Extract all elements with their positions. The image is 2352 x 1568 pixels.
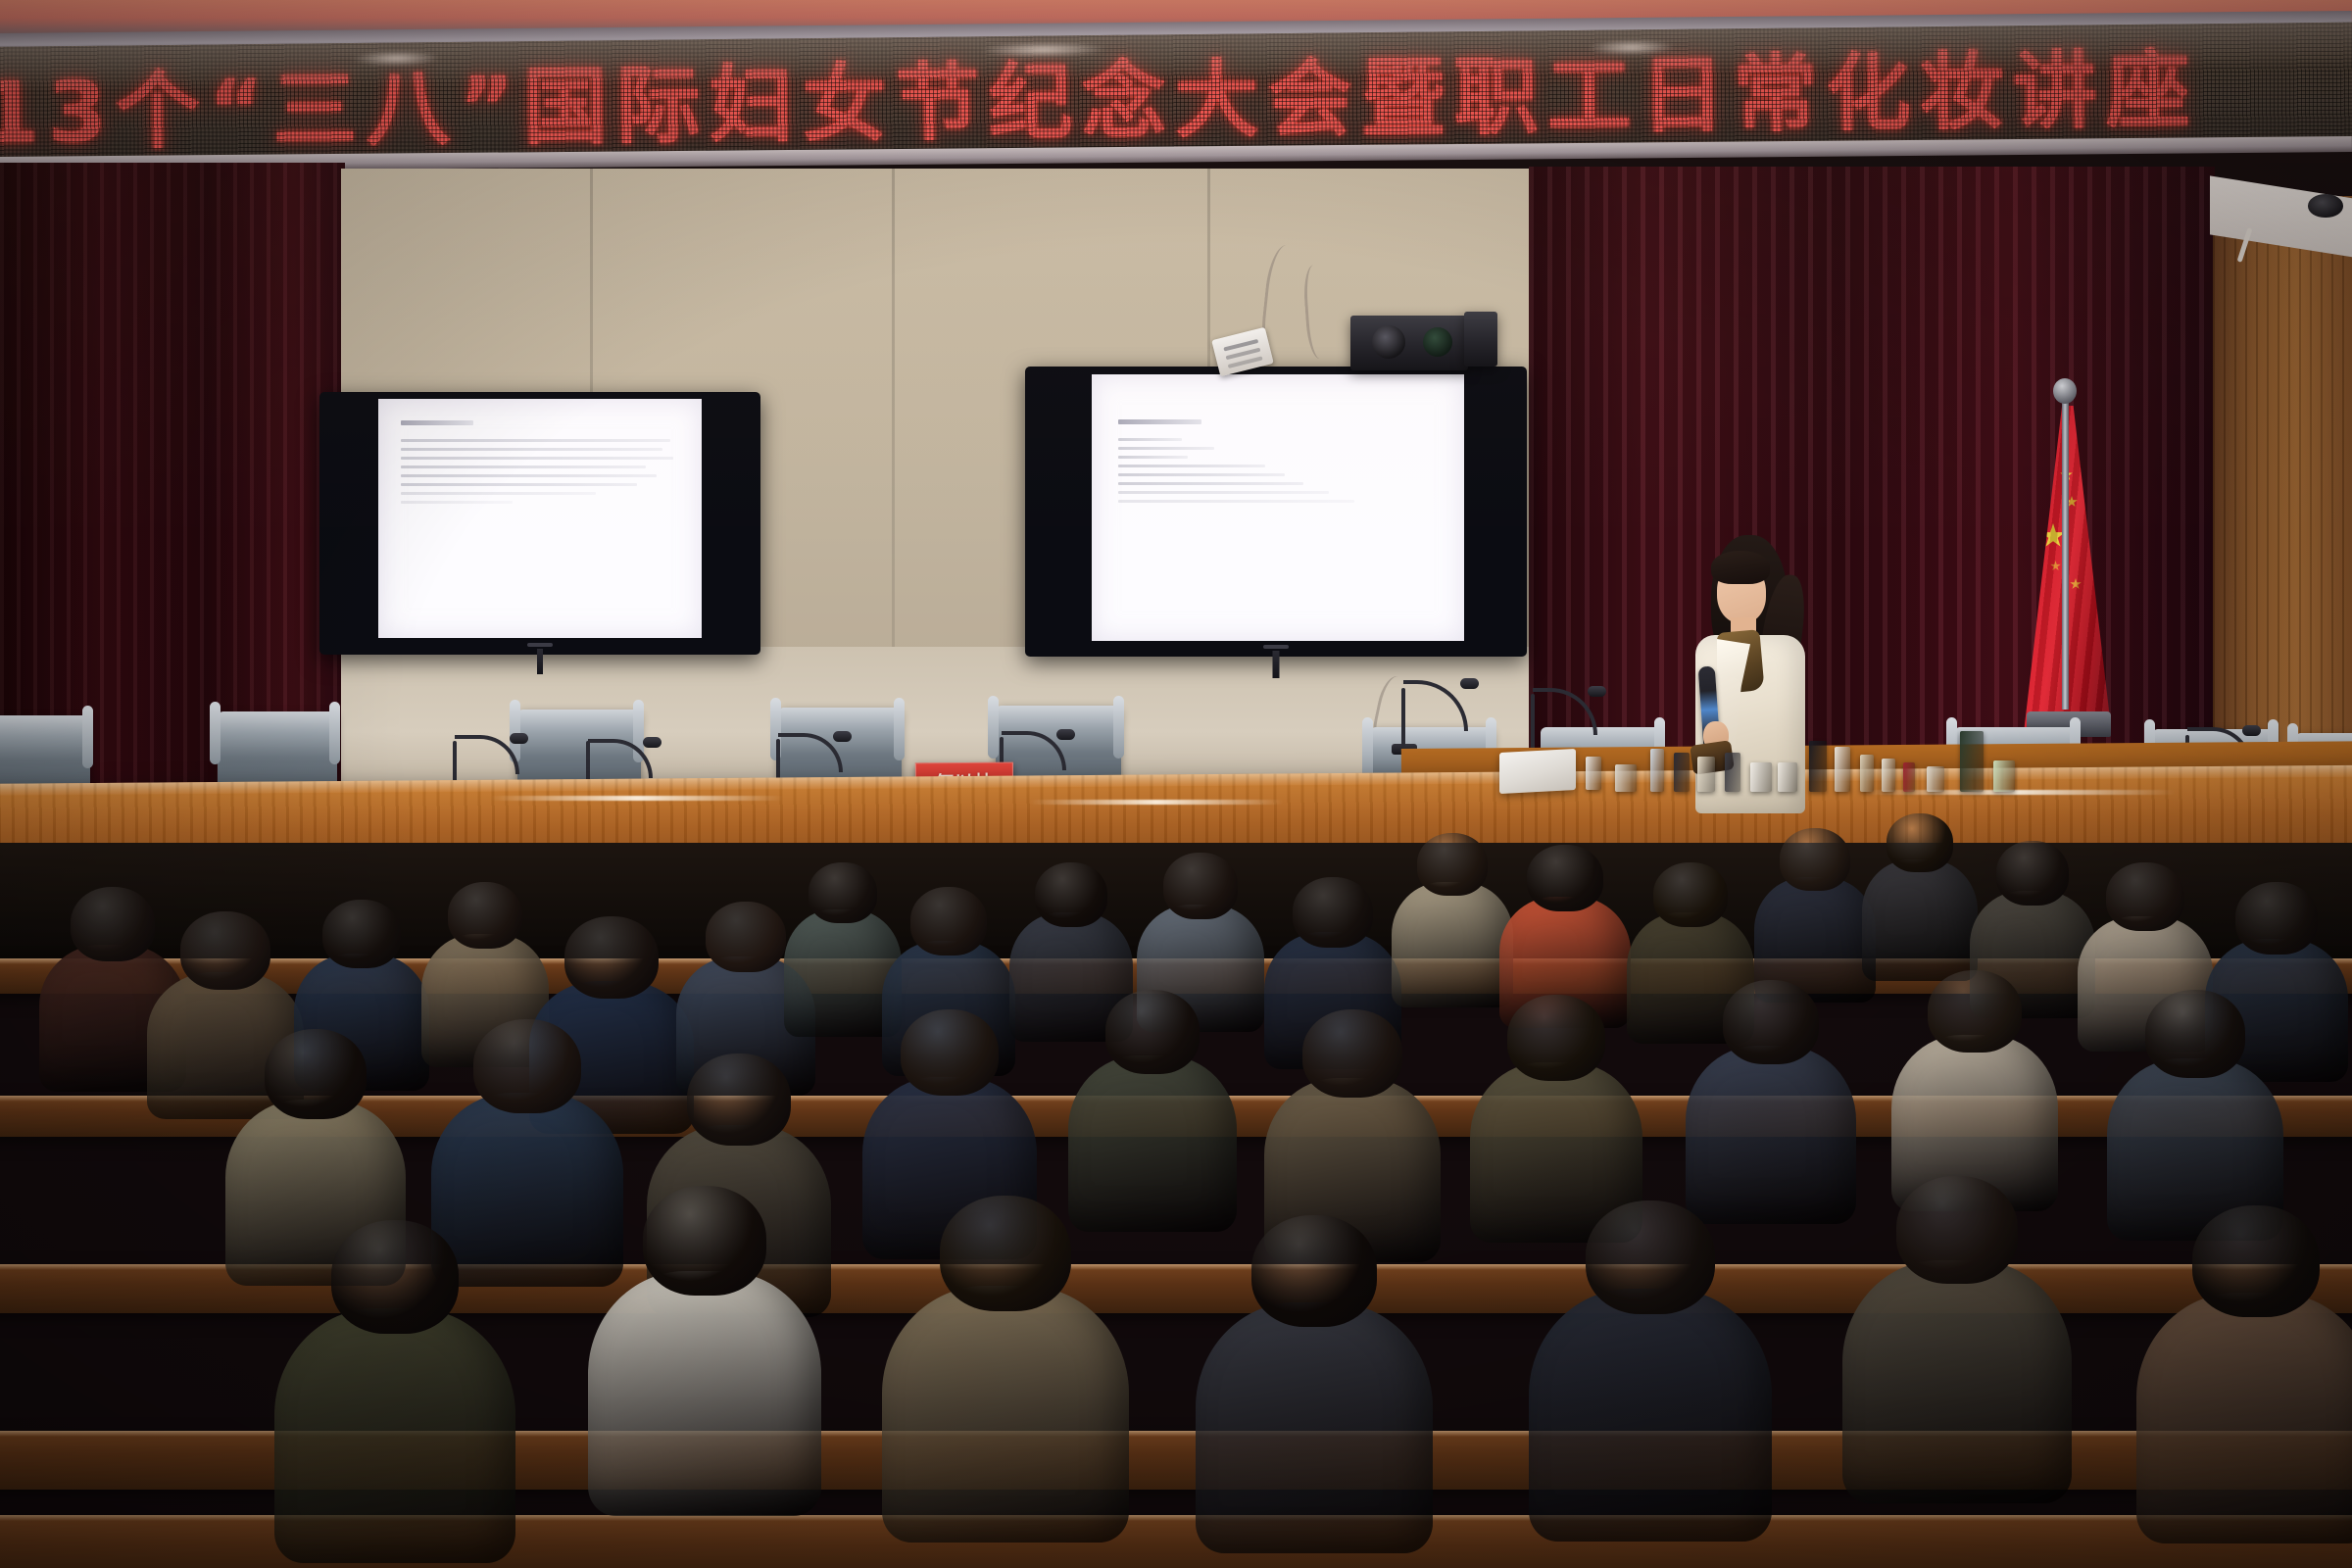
stage-curtain-right	[1529, 167, 2215, 794]
audience-member-head	[564, 916, 659, 999]
audience-member-head	[643, 1186, 766, 1296]
cosmetic-product	[1725, 753, 1740, 792]
audience-member-head	[180, 911, 270, 990]
cosmetic-product	[1650, 749, 1664, 792]
cosmetic-product	[1615, 764, 1637, 792]
right-display-logo	[1263, 645, 1289, 649]
led-banner-text: 13个“三八”国际妇女节纪念大会暨职工日常化妆讲座	[0, 27, 2352, 157]
audience-member-torso	[1196, 1302, 1433, 1553]
audience-member	[1842, 1176, 2072, 1527]
audience-member-head	[2192, 1205, 2320, 1317]
audience-member-torso	[2136, 1293, 2352, 1543]
cosmetic-product	[1927, 766, 1944, 792]
audience-member-torso	[1842, 1260, 2072, 1503]
speaker-driver-2	[1423, 327, 1452, 357]
speaker-driver-1	[1372, 325, 1405, 359]
audience-member	[1392, 833, 1513, 1021]
audience-member-head	[448, 882, 522, 949]
right-display-screen	[1092, 374, 1464, 641]
audience-member-head	[1527, 845, 1603, 911]
left-display[interactable]	[319, 392, 760, 655]
audience-member-head	[706, 902, 786, 972]
audience-member-torso	[588, 1271, 821, 1516]
audience-member-torso	[274, 1308, 515, 1563]
cosmetic-product	[1835, 747, 1850, 792]
audience-member-head	[1928, 970, 2022, 1053]
flag-star-4	[2070, 578, 2082, 590]
audience-member	[1529, 1200, 1772, 1567]
audience-member-torso	[1862, 859, 1978, 981]
flag-star-3	[2050, 561, 2061, 571]
cosmetic-product	[1960, 731, 1984, 792]
right-display[interactable]	[1025, 367, 1527, 657]
audience-member-torso	[1686, 1046, 1856, 1224]
audience-member-head	[1035, 862, 1107, 927]
cosmetic-product	[1674, 753, 1690, 792]
makeup-lecturer	[1666, 529, 1823, 813]
audience-member-torso	[1529, 1289, 1772, 1542]
left-display-logo	[527, 643, 553, 647]
right-slide-content	[1118, 398, 1439, 509]
audience-member-head	[71, 887, 155, 961]
audience-member	[1196, 1215, 1433, 1568]
audience-member-head	[1163, 853, 1238, 919]
cosmetic-product	[1586, 757, 1601, 790]
audience-member	[1862, 813, 1978, 994]
audience-member-head	[1896, 1176, 2018, 1284]
audience-member-head	[331, 1220, 459, 1334]
tissue-box	[1499, 749, 1576, 794]
lecturer-bangs	[1711, 551, 1770, 584]
audience-member-head	[687, 1053, 791, 1146]
left-display-stand	[537, 649, 543, 674]
stage-curtain-left	[0, 163, 345, 790]
audience-member-head	[322, 900, 401, 968]
audience-member	[882, 1196, 1129, 1568]
table-highlight-1	[490, 796, 784, 801]
audience-member	[2136, 1205, 2352, 1568]
audience-member	[588, 1186, 821, 1541]
cosmetic-product	[1809, 741, 1827, 792]
audience-member-head	[1586, 1200, 1715, 1314]
audience-member-head	[940, 1196, 1071, 1311]
dome-camera-icon	[2308, 194, 2343, 218]
audience-member-torso	[882, 1286, 1129, 1543]
audience-member-head	[1293, 877, 1373, 948]
audience-member-head	[1886, 813, 1953, 872]
cosmetic-product	[1993, 760, 2015, 792]
audience-member-head	[1723, 980, 1819, 1064]
auditorium-photo: 13个“三八”国际妇女节纪念大会暨职工日常化妆讲座	[0, 0, 2352, 1568]
audience-member-head	[473, 1019, 581, 1113]
cosmetic-product	[1778, 762, 1797, 792]
cosmetic-product	[1750, 762, 1772, 792]
table-highlight-2	[1029, 800, 1284, 805]
audience-member-head	[1653, 862, 1728, 927]
audience-member-torso	[1392, 882, 1513, 1007]
left-slide-content	[401, 420, 679, 510]
wood-wall-panel	[2213, 196, 2352, 794]
cosmetic-product	[1697, 757, 1715, 792]
audience-member-head	[808, 862, 877, 923]
flag-finial	[2053, 378, 2077, 404]
audience-member-head	[1780, 828, 1850, 891]
table-microphone[interactable]	[1392, 678, 1474, 755]
audience-member	[274, 1220, 515, 1568]
audience-member-head	[1417, 833, 1488, 896]
stage-speaker	[1350, 316, 1468, 370]
audience-member-head	[1105, 990, 1200, 1074]
audience-member-head	[901, 1009, 999, 1096]
audience-member-head	[1507, 995, 1605, 1081]
flag-pole	[2062, 396, 2069, 710]
audience-member-head	[910, 887, 987, 955]
cosmetic-product	[1882, 759, 1895, 792]
audience-member-head	[1996, 841, 2069, 906]
right-display-stand	[1273, 651, 1280, 678]
left-display-screen	[378, 399, 702, 638]
audience-member-head	[2235, 882, 2318, 955]
audience-member-head	[2106, 862, 2184, 931]
audience-member-head	[2145, 990, 2245, 1078]
audience-member-head	[1251, 1215, 1377, 1327]
cosmetic-product	[1903, 762, 1915, 792]
stage-speaker-side	[1464, 312, 1497, 367]
cosmetic-product	[1860, 755, 1874, 792]
audience-member-head	[1302, 1009, 1402, 1098]
audience-member-head	[265, 1029, 367, 1119]
